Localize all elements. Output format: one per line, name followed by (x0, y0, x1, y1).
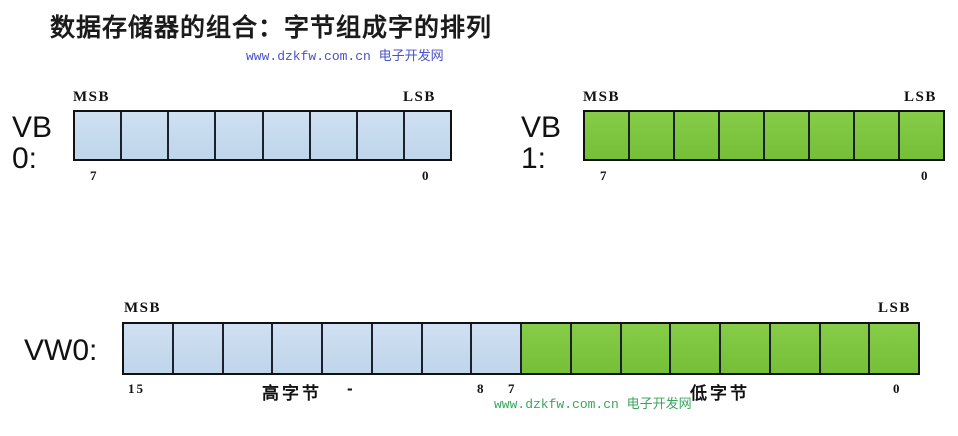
bit-cell (311, 112, 358, 159)
bit-cell (216, 112, 263, 159)
register-label-vb0: VB 0: (12, 113, 52, 174)
bit-cell (169, 112, 216, 159)
msb-label-vb1: MSB (583, 89, 620, 106)
bit-cell (765, 112, 810, 159)
bit-cell (264, 112, 311, 159)
bit-cell (675, 112, 720, 159)
high-byte-caption: 高字节 (262, 379, 322, 404)
bit-cell (323, 324, 373, 373)
bit-cell (870, 324, 918, 373)
bit-cell (720, 112, 765, 159)
bit-cell (810, 112, 855, 159)
lsb-label-vw0: LSB (878, 300, 911, 317)
bit-cell (373, 324, 423, 373)
bit-cell (405, 112, 450, 159)
msb-label-vb0: MSB (73, 89, 110, 106)
bit-cell (855, 112, 900, 159)
bit-cell (630, 112, 675, 159)
bit-cell-strip-vw0 (122, 322, 920, 375)
watermark-bottom: www.dzkfw.com.cn 电子开发网 (494, 393, 692, 412)
bit-cell (174, 324, 224, 373)
bit-cell (522, 324, 572, 373)
bit-cell (771, 324, 821, 373)
bit-cell (585, 112, 630, 159)
bit-cell (821, 324, 871, 373)
high-byte-caption-dash: - (347, 379, 356, 399)
bit-cell (900, 112, 943, 159)
bit-cell (75, 112, 122, 159)
bit-number-lsb-vb0: 0 (422, 168, 431, 184)
register-label-vw0: VW0: (24, 336, 97, 367)
bit-cell (721, 324, 771, 373)
low-byte-caption: 低字节 (690, 379, 750, 404)
bit-cell (122, 112, 169, 159)
register-label-vb1: VB 1: (521, 113, 561, 174)
bit-cell-strip-vb1 (583, 110, 945, 161)
bit-cell (124, 324, 174, 373)
bit-cell (472, 324, 522, 373)
bit-number-msb-vb0: 7 (90, 168, 99, 184)
bit-number-msb-vb1: 7 (600, 168, 609, 184)
bit-cell (224, 324, 274, 373)
msb-label-vw0: MSB (124, 300, 161, 317)
bit-number-high-byte-end-vw0: 8 (477, 381, 486, 397)
bit-number-lsb-vb1: 0 (921, 168, 930, 184)
bit-number-msb-vw0: 15 (128, 381, 145, 397)
bit-number-lsb-vw0: 0 (893, 381, 902, 397)
lsb-label-vb0: LSB (403, 89, 436, 106)
bit-cell (273, 324, 323, 373)
bit-cell (423, 324, 473, 373)
bit-cell (622, 324, 672, 373)
watermark-top: www.dzkfw.com.cn 电子开发网 (246, 45, 444, 64)
bit-cell (572, 324, 622, 373)
bit-cell (358, 112, 405, 159)
bit-cell (671, 324, 721, 373)
bit-cell-strip-vb0 (73, 110, 452, 161)
lsb-label-vb1: LSB (904, 89, 937, 106)
page-title: 数据存储器的组合：字节组成字的排列 (50, 8, 492, 44)
